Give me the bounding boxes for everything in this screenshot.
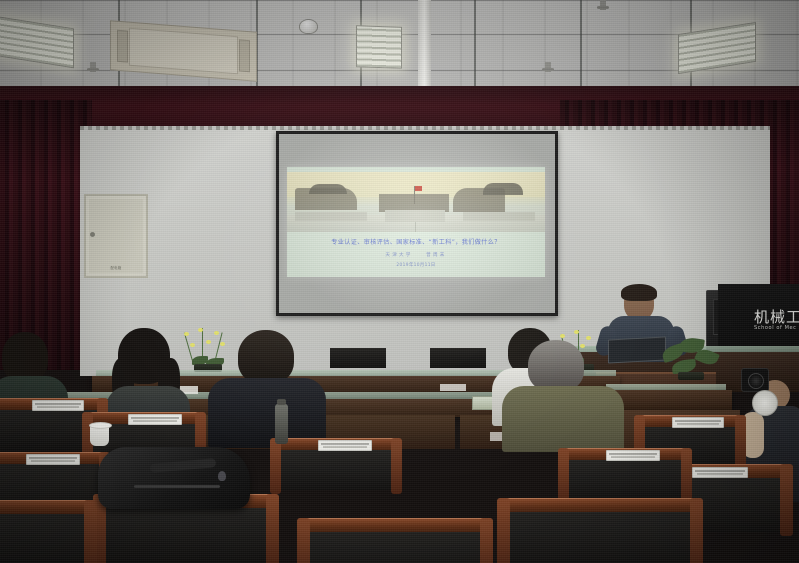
photographer-camera bbox=[741, 368, 769, 392]
slide-title: 专业认证、审核评估、国家标准、“新工科”，我们做什么？ bbox=[287, 237, 545, 246]
light-center-icon bbox=[356, 25, 402, 69]
presenter-hair bbox=[621, 284, 657, 301]
sprinkler-icon bbox=[90, 62, 96, 72]
projection-screen-surface: 专业认证、审核评估、国家标准、“新工科”，我们做什么？ 天津大学 曾周末 201… bbox=[279, 134, 555, 313]
projection-screen: 专业认证、审核评估、国家标准、“新工科”，我们做什么？ 天津大学 曾周末 201… bbox=[276, 131, 558, 316]
school-sign-english: School of Mec bbox=[754, 325, 797, 331]
sprinkler-icon bbox=[600, 0, 606, 10]
lecture-hall-photo: 配电箱 专业认 bbox=[0, 0, 799, 563]
slide-date: 2019年10月11日 bbox=[287, 262, 545, 268]
placard-1 bbox=[32, 400, 84, 411]
attendee-center-man-suit bbox=[212, 330, 322, 442]
smoke-detector-icon bbox=[299, 19, 318, 34]
attendee-right-man-olive-jacket bbox=[506, 340, 618, 450]
papers bbox=[440, 384, 466, 391]
placard-6 bbox=[672, 417, 724, 428]
wall-panel-label: 配电箱 bbox=[86, 265, 146, 270]
front-wall-top-edge bbox=[80, 126, 770, 130]
presentation-slide: 专业认证、审核评估、国家标准、“新工科”，我们做什么？ 天津大学 曾周末 201… bbox=[287, 167, 545, 277]
projector-mount bbox=[418, 0, 431, 92]
camera-lens-icon bbox=[748, 373, 764, 389]
wall-electrical-panel: 配电箱 bbox=[84, 194, 148, 278]
black-backpack bbox=[98, 447, 250, 509]
thermos-bottle bbox=[275, 404, 288, 444]
panel-lock-icon bbox=[90, 232, 95, 237]
paper-cup bbox=[90, 424, 109, 446]
desk-monitor-recess bbox=[330, 348, 386, 368]
placard-8 bbox=[606, 450, 660, 461]
foliage-planter-right bbox=[660, 336, 722, 380]
placard-2 bbox=[128, 414, 182, 425]
slide-author: 天津大学 曾周末 bbox=[287, 252, 545, 258]
slide-photo-campus bbox=[287, 172, 545, 232]
sprinkler-icon bbox=[545, 62, 551, 72]
placard-5 bbox=[318, 440, 372, 451]
school-sign-chinese: 机械工 bbox=[754, 306, 799, 327]
placard-3 bbox=[26, 454, 80, 465]
desk-monitor-recess bbox=[430, 348, 486, 368]
curtain-left bbox=[0, 100, 92, 370]
placard-7 bbox=[692, 467, 748, 478]
camera-ring-light bbox=[752, 390, 778, 416]
